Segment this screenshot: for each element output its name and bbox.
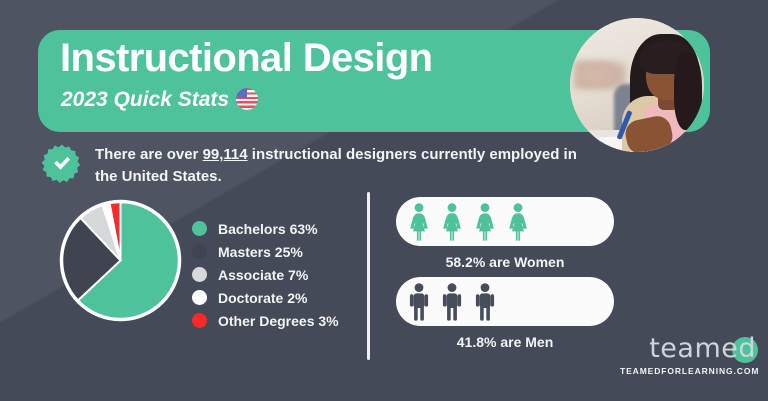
employment-stat-text: There are over 99,114 instructional desi… — [95, 143, 582, 188]
employment-stat: There are over 99,114 instructional desi… — [42, 143, 582, 188]
pie-legend: Bachelors 63% Masters 25% Associate 7% D… — [192, 219, 339, 330]
logo-wordmark: teamed — [649, 333, 756, 364]
legend-item: Bachelors 63% — [192, 219, 339, 238]
male-figure-icon — [439, 283, 465, 321]
legend-swatch-other — [192, 313, 207, 328]
female-figure-icon — [505, 203, 531, 241]
men-caption: 41.8% are Men — [396, 334, 614, 350]
legend-label-associate: Associate 7% — [218, 267, 308, 283]
section-divider — [367, 192, 370, 360]
male-figure-icon — [406, 283, 432, 321]
gender-stat-men: 41.8% are Men — [396, 277, 614, 350]
stat-number: 99,114 — [203, 146, 248, 163]
legend-swatch-masters — [192, 244, 207, 259]
legend-label-masters: Masters 25% — [218, 244, 303, 260]
male-figure-icon-group — [406, 283, 498, 321]
legend-item: Other Degrees 3% — [192, 311, 339, 330]
infographic-canvas: Instructional Design 2023 Quick Stats — [0, 0, 768, 401]
stat-prefix: There are over — [95, 146, 203, 163]
brand-logo: teamed TEAMEDFORLEARNING.COM — [620, 334, 756, 376]
women-caption: 58.2% are Women — [396, 254, 614, 270]
legend-item: Doctorate 2% — [192, 288, 339, 307]
photo-illustration — [570, 18, 704, 152]
female-figure-icon-group — [406, 203, 531, 241]
legend-swatch-doctorate — [192, 290, 207, 305]
check-seal-icon — [42, 143, 82, 183]
logo-mark: teamed — [649, 334, 756, 364]
female-figure-icon — [472, 203, 498, 241]
legend-label-other: Other Degrees 3% — [218, 313, 339, 329]
female-figure-icon — [406, 203, 432, 241]
women-figure-pill — [396, 197, 614, 246]
male-figure-icon — [472, 283, 498, 321]
men-figure-pill — [396, 277, 614, 326]
legend-item: Associate 7% — [192, 265, 339, 284]
logo-url: TEAMEDFORLEARNING.COM — [620, 366, 756, 376]
legend-item: Masters 25% — [192, 242, 339, 261]
legend-swatch-bachelors — [192, 221, 207, 236]
degree-pie-chart — [57, 197, 184, 324]
page-subtitle: 2023 Quick Stats — [61, 88, 258, 110]
legend-label-bachelors: Bachelors 63% — [218, 221, 318, 237]
legend-swatch-associate — [192, 267, 207, 282]
subtitle-text: 2023 Quick Stats — [61, 89, 229, 110]
female-figure-icon — [439, 203, 465, 241]
gender-stat-women: 58.2% are Women — [396, 197, 614, 270]
us-flag-icon — [236, 88, 258, 110]
avatar — [570, 18, 704, 152]
page-title: Instructional Design — [60, 38, 433, 78]
legend-label-doctorate: Doctorate 2% — [218, 290, 307, 306]
